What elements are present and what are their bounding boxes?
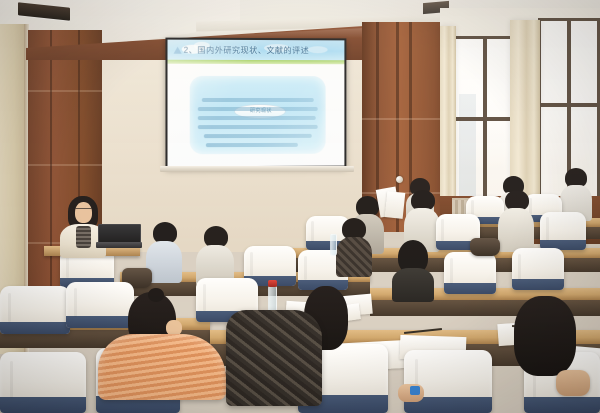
slide-bullet-marker	[174, 47, 182, 54]
water-bottle[interactable]	[330, 234, 337, 256]
small-device[interactable]	[410, 386, 420, 395]
laptop-keyboard	[96, 242, 142, 248]
torso	[98, 334, 226, 400]
attendee-9	[392, 240, 434, 298]
projection-screen: 2、国内外研究现状、文献的评述 研究现状	[165, 38, 346, 169]
projected-slide: 2、国内外研究现状、文献的评述 研究现状	[168, 40, 345, 167]
chair[interactable]	[540, 212, 586, 250]
slide-title: 2、国内外研究现状、文献的评述	[184, 44, 339, 59]
slide-title-divider	[168, 60, 345, 65]
attendee-8	[336, 218, 372, 274]
glasses-icon	[75, 208, 92, 212]
hand	[556, 370, 590, 396]
hair	[514, 296, 576, 376]
water-bottle-cap	[268, 280, 277, 287]
screen-tray	[160, 166, 354, 172]
chair[interactable]	[512, 248, 564, 290]
presenter-blouse	[76, 226, 91, 248]
slide-content-box: 研究现状	[190, 76, 326, 154]
classroom-scene: 2、国内外研究现状、文献的评述 研究现状 省内发达国家主要专家学者对 关的研究较…	[0, 0, 600, 413]
curtain-left	[440, 26, 456, 202]
attendee-11	[222, 292, 340, 404]
torso	[226, 310, 322, 406]
attendee-10	[100, 292, 228, 400]
ponytail	[148, 288, 164, 302]
attendee-1b	[196, 226, 234, 284]
chair[interactable]	[0, 286, 70, 334]
chair[interactable]	[444, 252, 496, 294]
laptop-screen	[98, 224, 141, 243]
attendee-2	[498, 190, 534, 250]
handbag[interactable]	[470, 238, 500, 256]
door-handle-icon[interactable]	[396, 176, 403, 183]
chair[interactable]	[0, 352, 86, 413]
attendee-reading	[396, 186, 430, 226]
